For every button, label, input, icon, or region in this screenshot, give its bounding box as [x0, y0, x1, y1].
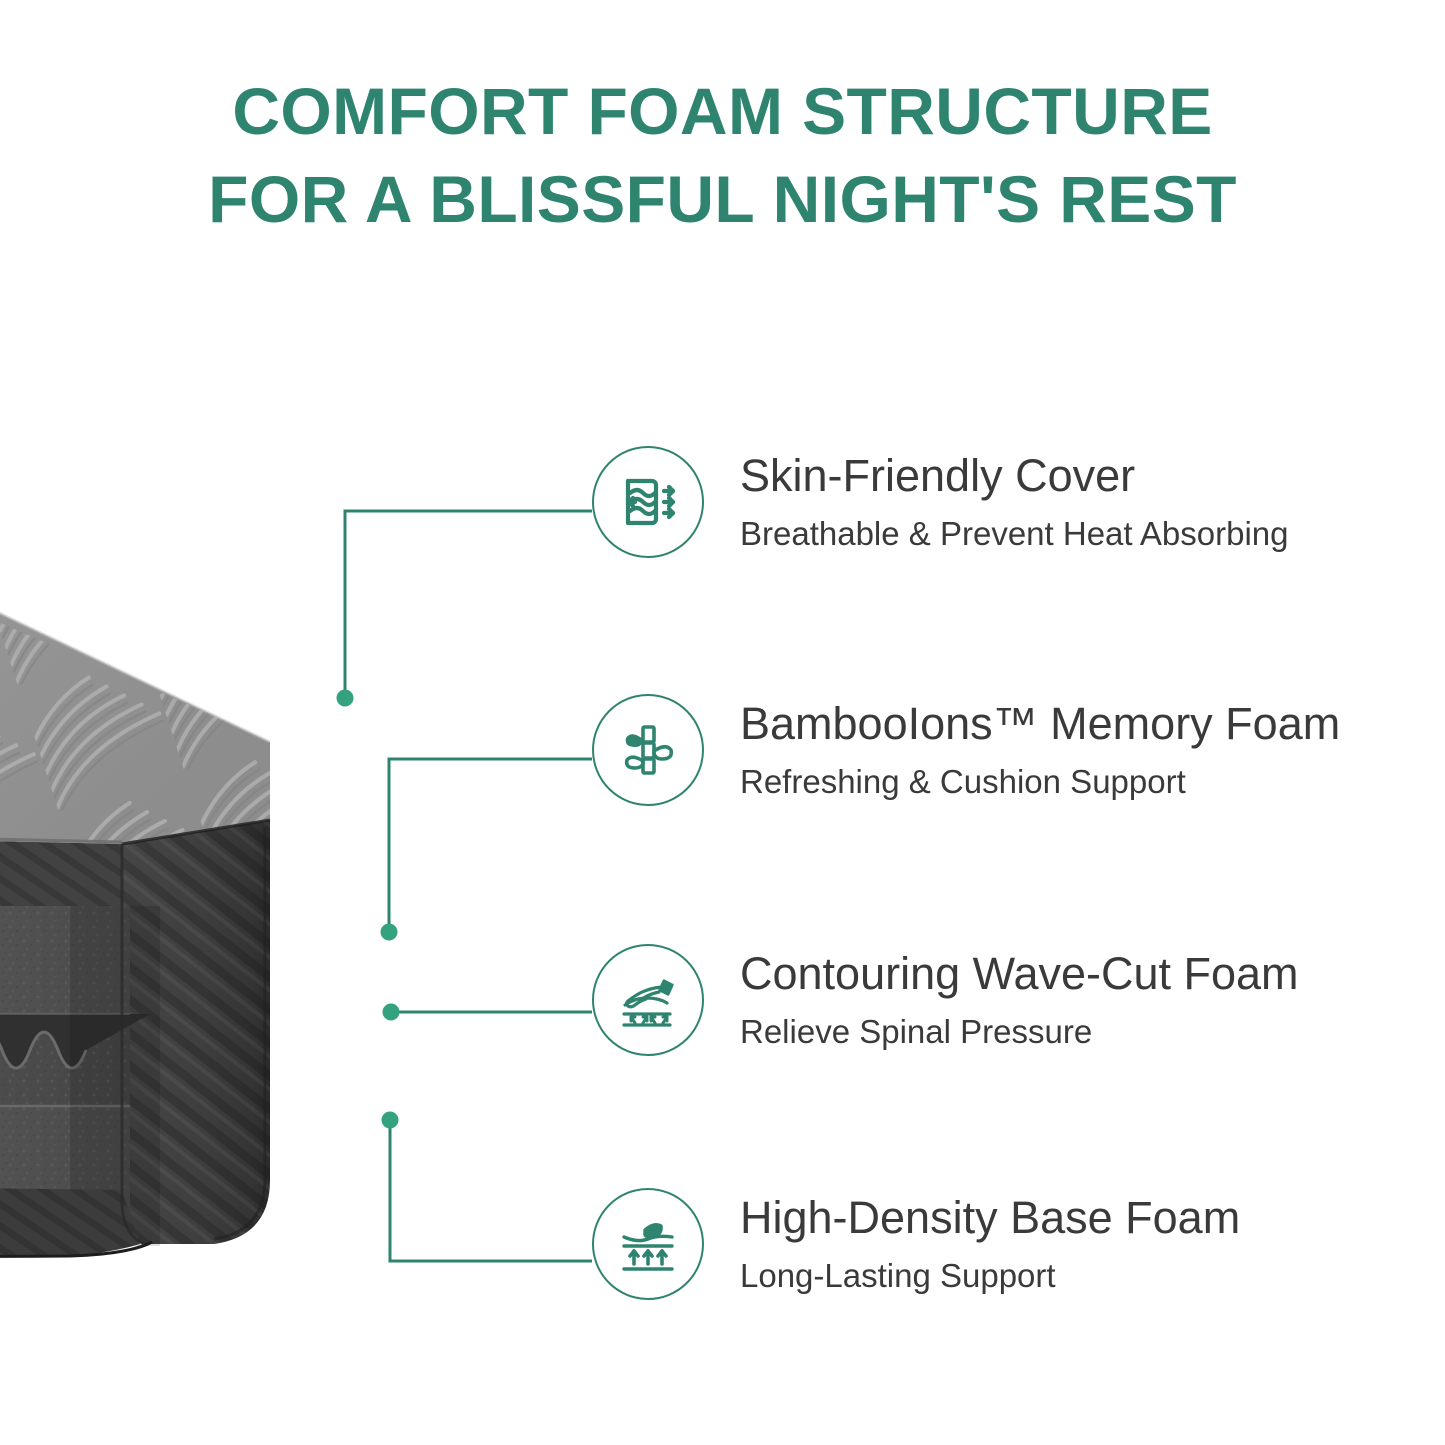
feature-title: High-Density Base Foam — [740, 1193, 1240, 1243]
feature-title: BambooIons™ Memory Foam — [740, 699, 1340, 749]
feature-text-block: Skin-Friendly Cover Breathable & Prevent… — [740, 451, 1289, 554]
breathable-cover-icon — [592, 446, 704, 558]
feature-title: Skin-Friendly Cover — [740, 451, 1289, 501]
feature-subtitle: Relieve Spinal Pressure — [740, 1012, 1299, 1052]
mattress-cutaway-illustration — [0, 350, 570, 1262]
page-title: COMFORT FOAM STRUCTURE FOR A BLISSFUL NI… — [0, 68, 1445, 244]
feature-title: Contouring Wave-Cut Foam — [740, 949, 1299, 999]
feature-item-contouring-wave-cut-foam: Contouring Wave-Cut Foam Relieve Spinal … — [592, 944, 1299, 1056]
feature-text-block: Contouring Wave-Cut Foam Relieve Spinal … — [740, 949, 1299, 1052]
hand-pressure-relief-icon — [592, 944, 704, 1056]
bamboo-plant-icon — [592, 694, 704, 806]
feature-text-block: High-Density Base Foam Long-Lasting Supp… — [740, 1193, 1240, 1296]
feature-subtitle: Refreshing & Cushion Support — [740, 762, 1340, 802]
leaf-support-arrows-icon — [592, 1188, 704, 1300]
title-line-2: FOR A BLISSFUL NIGHT'S REST — [0, 156, 1445, 244]
mattress-top-cover — [0, 350, 570, 910]
feature-subtitle: Breathable & Prevent Heat Absorbing — [740, 514, 1289, 554]
feature-item-bambooions-memory-foam: BambooIons™ Memory Foam Refreshing & Cus… — [592, 694, 1340, 806]
feature-subtitle: Long-Lasting Support — [740, 1256, 1240, 1296]
feature-item-skin-friendly-cover: Skin-Friendly Cover Breathable & Prevent… — [592, 446, 1289, 558]
feature-text-block: BambooIons™ Memory Foam Refreshing & Cus… — [740, 699, 1340, 802]
title-line-1: COMFORT FOAM STRUCTURE — [0, 68, 1445, 156]
feature-item-high-density-base-foam: High-Density Base Foam Long-Lasting Supp… — [592, 1188, 1240, 1300]
